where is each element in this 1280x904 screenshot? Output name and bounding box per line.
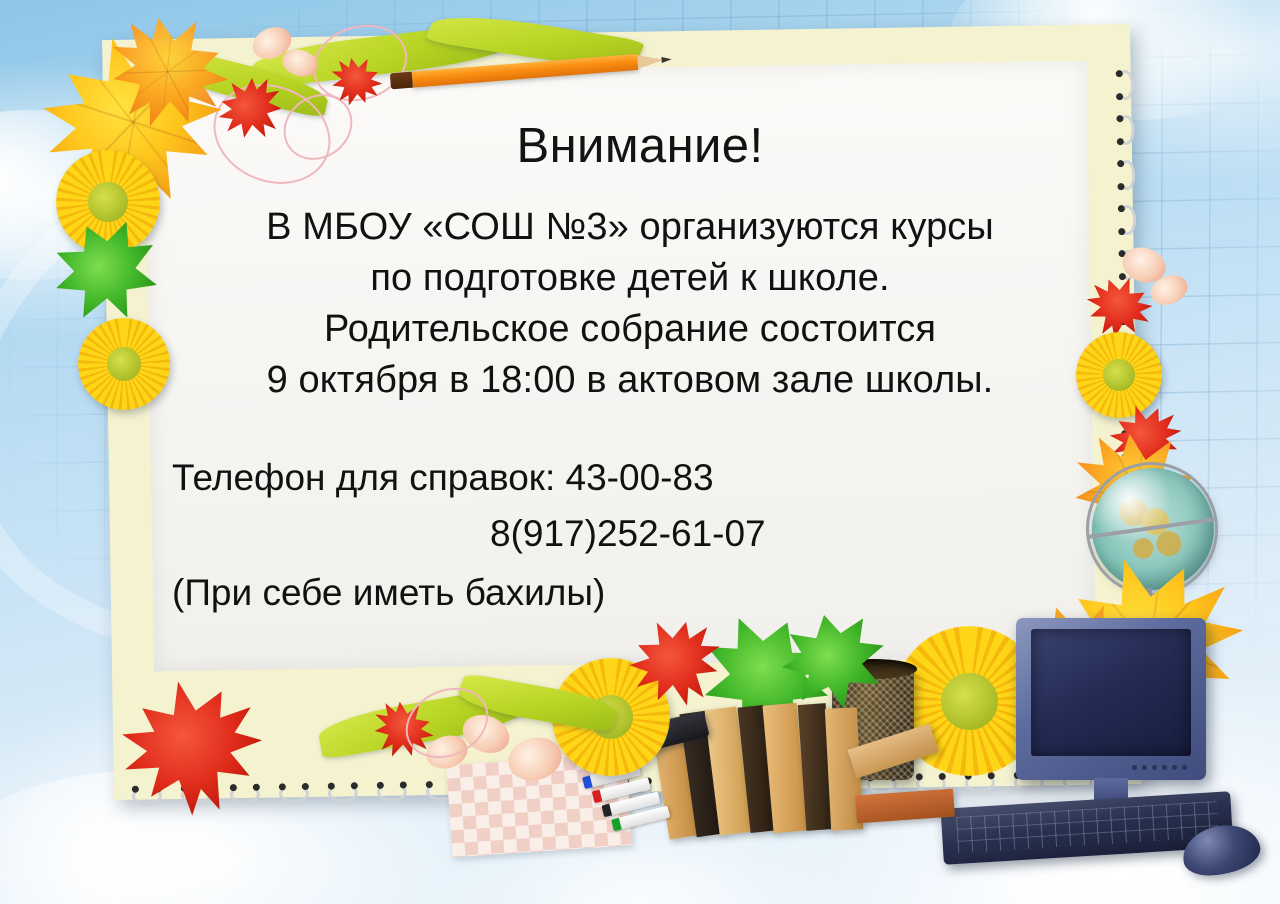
body-line-2: по подготовке детей к школе.: [150, 253, 1110, 304]
monitor-buttons: [1132, 765, 1187, 770]
footnote: (При себе иметь бахилы): [172, 572, 605, 614]
contact-block: Телефон для справок: 43-00-83 8(917)252-…: [172, 450, 1072, 562]
pencil-ferrule: [390, 72, 413, 90]
daisy-flower-left-2: [78, 318, 170, 410]
body-line-4: 9 октября в 18:00 в актовом зале школы.: [150, 355, 1110, 406]
pencil-tip: [637, 53, 664, 69]
keyboard-keys: [956, 801, 1219, 853]
flower-center: [941, 673, 998, 730]
body-line-3: Родительское собрание состоится: [150, 304, 1110, 355]
flower-center: [88, 182, 128, 222]
globe: [1086, 452, 1218, 602]
book-flat-1: [847, 723, 938, 778]
daisy-flower-right: [1076, 332, 1162, 418]
daisy-flower-left-1: [56, 150, 160, 254]
body-line-1: В МБОУ «СОШ №3» организуются курсы: [150, 202, 1110, 253]
monitor-case: [1016, 618, 1206, 780]
announcement-poster: Внимание! В МБОУ «СОШ №3» организуются к…: [0, 0, 1280, 904]
announcement-body: В МБОУ «СОШ №3» организуются курсы по по…: [150, 202, 1110, 406]
monitor-screen: [1031, 629, 1191, 755]
computer-monitor: [1016, 618, 1206, 818]
phone-line-secondary: 8(917)252-61-07: [172, 506, 1072, 562]
pencil-lead: [661, 56, 671, 63]
phone-line-primary: Телефон для справок: 43-00-83: [172, 450, 1072, 506]
